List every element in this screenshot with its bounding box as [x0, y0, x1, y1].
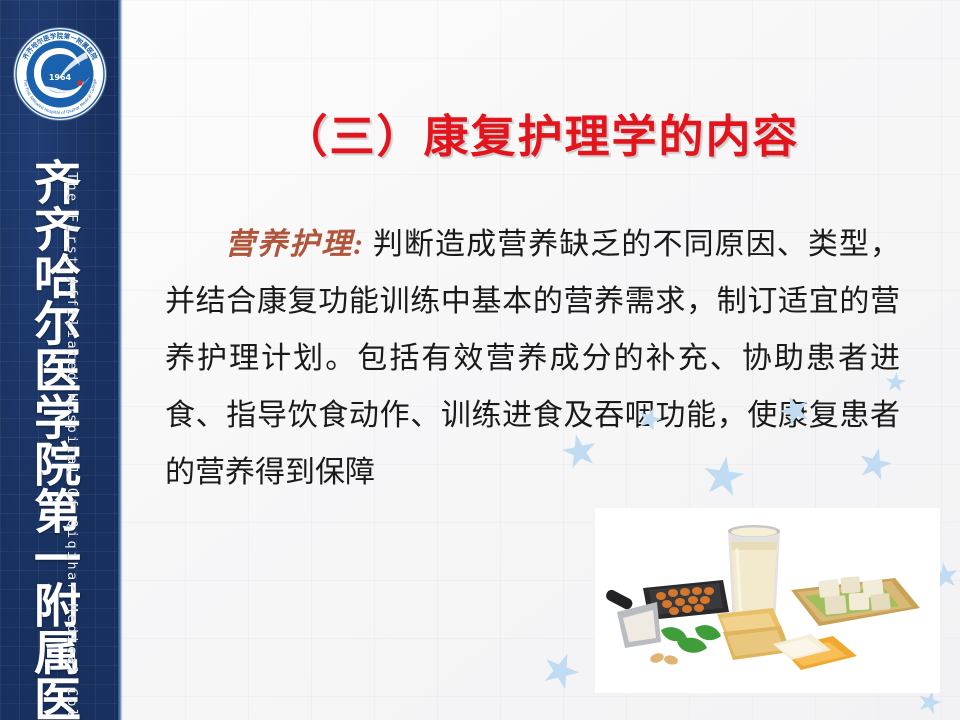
presentation-slide: 1964 齐齐哈尔医学院第一附属医院 The First Affiliated …: [0, 0, 960, 720]
decorative-star-icon: ★: [533, 642, 588, 700]
hospital-crest-logo-icon: 1964 齐齐哈尔医学院第一附属医院 The First Affiliated …: [14, 28, 106, 120]
nutrition-foods-photo: [595, 508, 940, 693]
svg-text:1964: 1964: [49, 73, 72, 82]
body-lead-label: 营养护理:: [225, 228, 364, 261]
institution-name-english: The First Affiliated Hospital Of Qiqihar…: [64, 172, 80, 720]
institution-sidebar: 1964 齐齐哈尔医学院第一附属医院 The First Affiliated …: [0, 0, 118, 720]
slide-body-text: 营养护理: 判断造成营养缺乏的不同原因、类型，并结合康复功能训练中基本的营养需求…: [165, 216, 900, 501]
body-paragraph: 判断造成营养缺乏的不同原因、类型，并结合康复功能训练中基本的营养需求，制订适宜的…: [165, 228, 900, 489]
slide-title: （三）康复护理学的内容: [122, 100, 960, 165]
